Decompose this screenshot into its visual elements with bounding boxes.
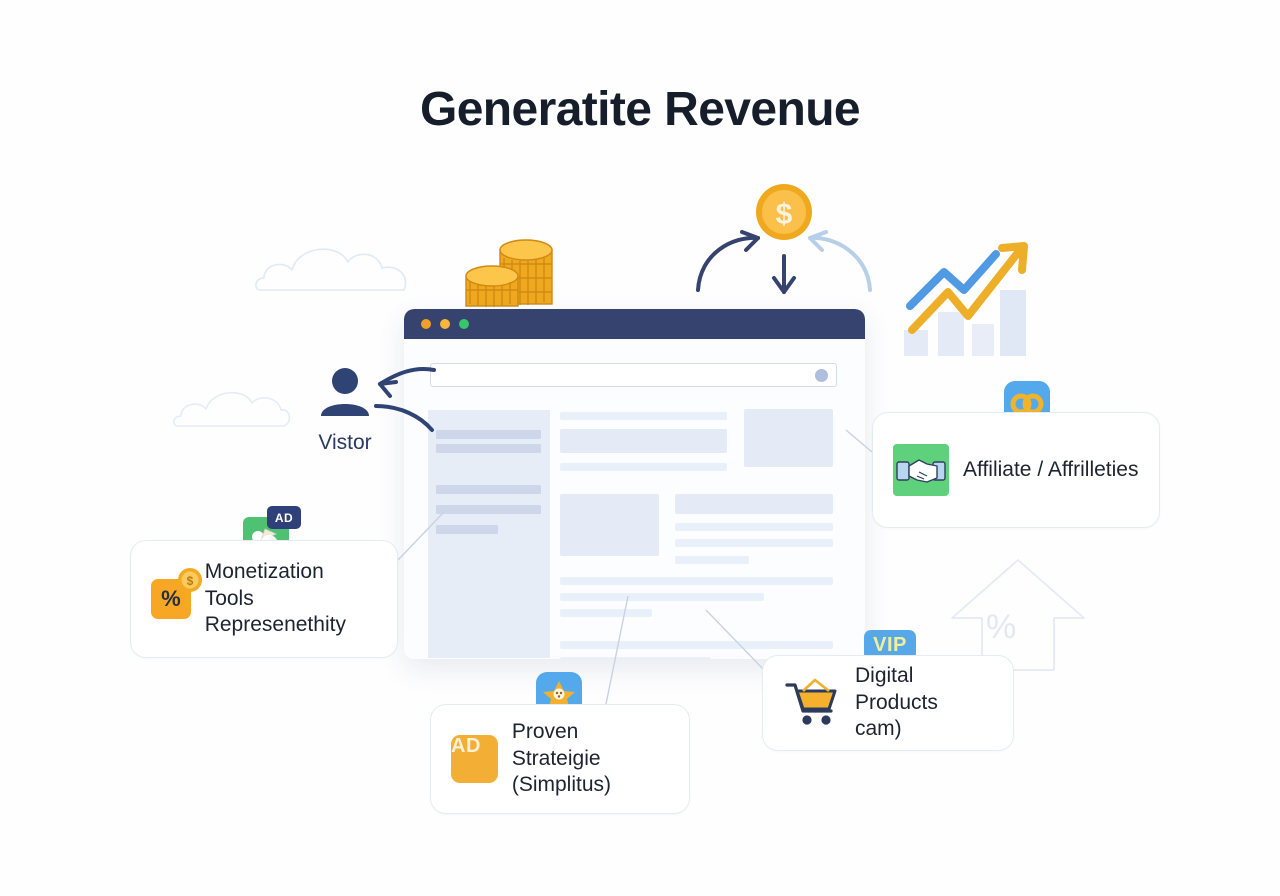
dollar-coin-icon: $ <box>177 567 203 593</box>
visitor-label: Vistor <box>300 431 390 455</box>
ad-tile-label: AD <box>451 735 481 757</box>
vip-badge-label: VIP <box>873 634 907 657</box>
svg-text:$: $ <box>186 574 193 588</box>
card-digital-products-label: Digital Products cam) <box>855 663 993 744</box>
percent-icon: % $ <box>151 579 191 619</box>
shopping-cart-icon <box>783 677 841 729</box>
ad-chip-label: AD <box>267 506 301 529</box>
card-monetization[interactable]: % $ Monetization Tools Represenethity <box>130 540 398 658</box>
infographic-canvas: Generatite Revenue % <box>0 0 1280 896</box>
handshake-icon <box>893 444 949 496</box>
card-affiliate[interactable]: Affiliate / Affrilleties <box>872 412 1160 528</box>
visitor-arrow-icon <box>362 362 440 434</box>
card-affiliate-label: Affiliate / Affrilleties <box>963 457 1138 484</box>
card-strategies[interactable]: AD Proven Strateigie (Simplitus) <box>430 704 690 814</box>
card-digital-products[interactable]: Digital Products cam) <box>762 655 1014 751</box>
card-monetization-label: Monetization Tools Represenethity <box>205 559 377 640</box>
card-strategies-label: Proven Strateigie (Simplitus) <box>512 719 669 800</box>
ad-icon: AD <box>451 735 498 783</box>
